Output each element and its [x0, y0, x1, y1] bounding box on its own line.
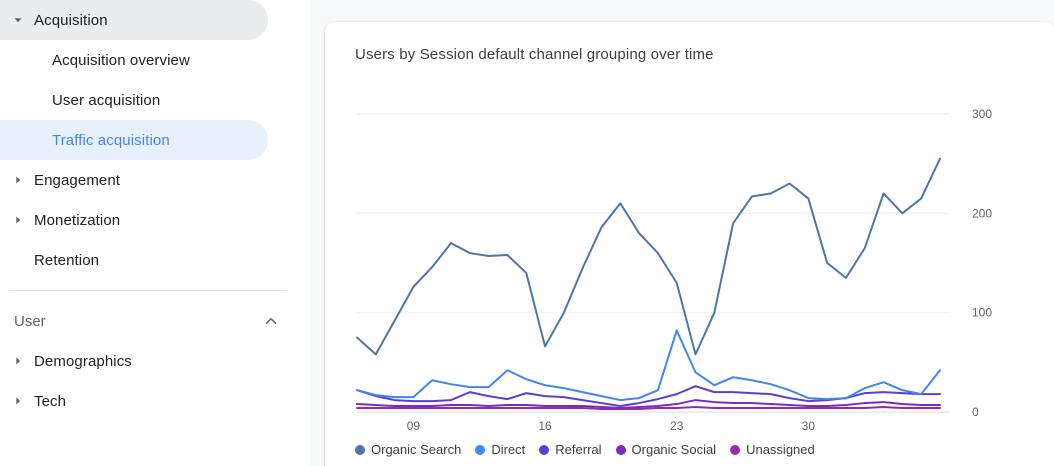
sidebar-section-label: User — [14, 313, 262, 330]
legend-label: Direct — [491, 442, 525, 457]
sidebar-item-retention[interactable]: Retention — [0, 240, 310, 280]
y-axis-tick-label: 300 — [972, 107, 992, 121]
y-axis-tick-label: 100 — [972, 306, 992, 320]
legend-label: Referral — [555, 442, 601, 457]
chart-legend: Organic SearchDirectReferralOrganic Soci… — [355, 442, 815, 457]
sidebar-item-label: User acquisition — [52, 92, 160, 109]
main-content-area: Users by Session default channel groupin… — [310, 0, 1054, 466]
sidebar-item-label: Acquisition overview — [52, 52, 190, 69]
caret-right-icon[interactable] — [6, 215, 30, 225]
sidebar-item-label: Monetization — [34, 212, 120, 229]
legend-item-direct[interactable]: Direct — [475, 442, 525, 457]
legend-color-dot — [730, 445, 740, 455]
caret-right-icon[interactable] — [6, 175, 30, 185]
chart-svg: 010020030009Jan162330 — [325, 72, 1054, 432]
nav-group-user: DemographicsTech — [0, 341, 310, 421]
nav-group-acquisition: AcquisitionAcquisition overviewUser acqu… — [0, 0, 310, 280]
sidebar-item-user-acquisition[interactable]: User acquisition — [0, 80, 310, 120]
chart-card: Users by Session default channel groupin… — [325, 22, 1054, 466]
sidebar-item-demographics[interactable]: Demographics — [0, 341, 310, 381]
sidebar-item-tech[interactable]: Tech — [0, 381, 310, 421]
sidebar-item-label: Traffic acquisition — [52, 132, 170, 149]
y-axis-tick-label: 0 — [972, 405, 979, 419]
line-chart-plot: 010020030009Jan162330 — [325, 72, 1054, 432]
legend-label: Organic Search — [371, 442, 461, 457]
x-axis-tick-label: 09 — [407, 419, 421, 432]
legend-item-organic-social[interactable]: Organic Social — [616, 442, 717, 457]
series-line-organic-search — [357, 159, 940, 355]
chart-title: Users by Session default channel groupin… — [355, 46, 714, 63]
legend-item-unassigned[interactable]: Unassigned — [730, 442, 815, 457]
legend-label: Unassigned — [746, 442, 815, 457]
series-line-referral — [357, 386, 940, 406]
chevron-up-icon[interactable] — [262, 312, 280, 330]
sidebar-item-engagement[interactable]: Engagement — [0, 160, 310, 200]
sidebar-item-label: Engagement — [34, 172, 120, 189]
x-axis-tick-label: 16 — [538, 419, 552, 432]
sidebar-divider — [10, 290, 286, 291]
sidebar-item-monetization[interactable]: Monetization — [0, 200, 310, 240]
legend-color-dot — [616, 445, 626, 455]
x-axis-tick-label: 23 — [670, 419, 684, 432]
caret-down-icon[interactable] — [6, 15, 30, 25]
y-axis-tick-label: 200 — [972, 206, 992, 220]
sidebar-item-label: Tech — [34, 393, 66, 410]
legend-color-dot — [355, 445, 365, 455]
series-line-direct — [357, 331, 940, 401]
sidebar-item-traffic-acquisition[interactable]: Traffic acquisition — [0, 120, 310, 160]
sidebar-item-acquisition-overview[interactable]: Acquisition overview — [0, 40, 310, 80]
caret-right-icon[interactable] — [6, 356, 30, 366]
sidebar-item-label: Acquisition — [34, 12, 108, 29]
x-axis-tick-label: 30 — [802, 419, 816, 432]
caret-right-icon[interactable] — [6, 396, 30, 406]
legend-item-organic-search[interactable]: Organic Search — [355, 442, 461, 457]
legend-item-referral[interactable]: Referral — [539, 442, 601, 457]
sidebar-section-user[interactable]: User — [0, 301, 310, 341]
left-navigation-sidebar: AcquisitionAcquisition overviewUser acqu… — [0, 0, 310, 466]
legend-color-dot — [475, 445, 485, 455]
sidebar-item-label: Demographics — [34, 353, 132, 370]
sidebar-item-label: Retention — [34, 252, 99, 269]
sidebar-item-acquisition[interactable]: Acquisition — [0, 0, 310, 40]
app-root: AcquisitionAcquisition overviewUser acqu… — [0, 0, 1054, 466]
legend-label: Organic Social — [632, 442, 717, 457]
legend-color-dot — [539, 445, 549, 455]
